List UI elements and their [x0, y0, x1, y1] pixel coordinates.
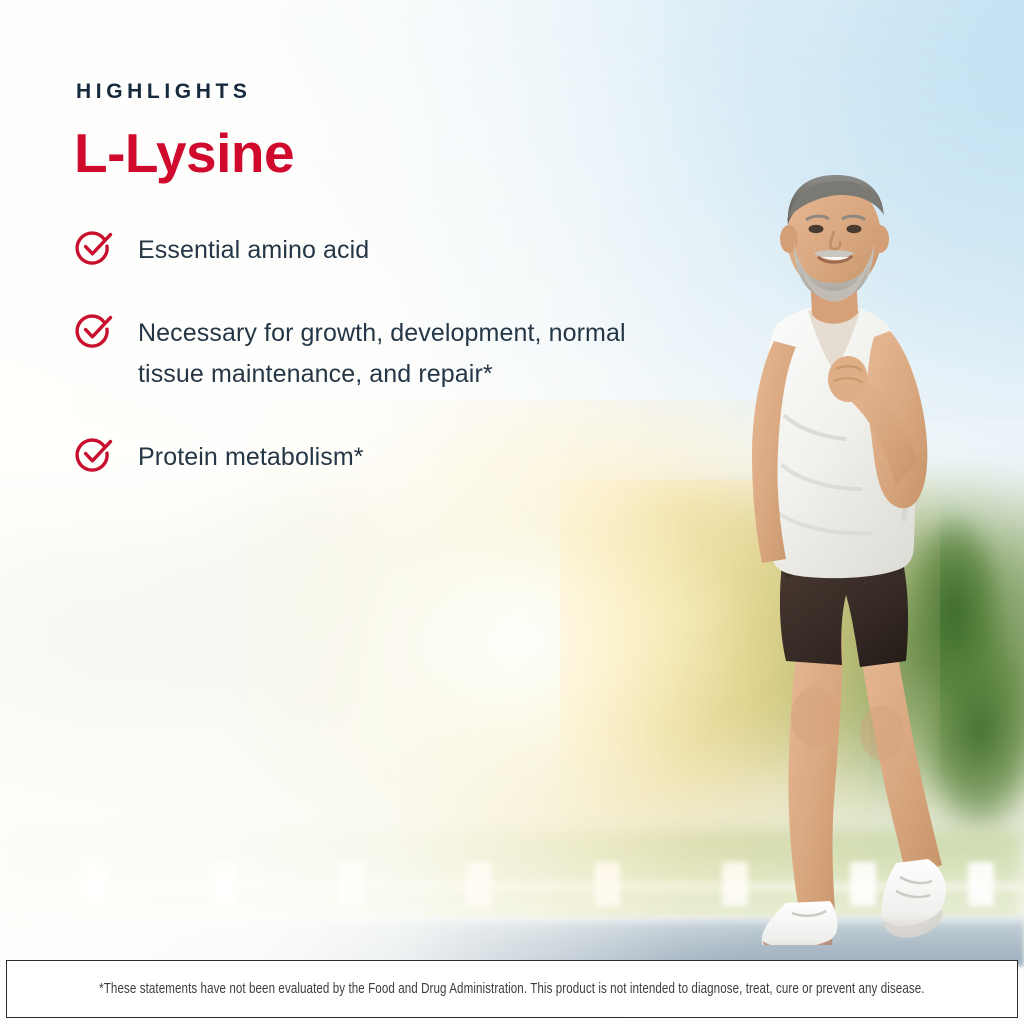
check-circle-icon — [74, 227, 114, 267]
page-title: L-Lysine — [74, 125, 294, 183]
runner-eye-right — [847, 225, 862, 233]
runner-left-leg — [788, 635, 842, 927]
disclaimer-text: *These statements have not been evaluate… — [99, 981, 924, 997]
eyebrow-label: HIGHLIGHTS — [76, 80, 252, 104]
runner-eye-left — [809, 225, 824, 233]
list-item-label: Protein metabolism* — [138, 435, 364, 478]
highlights-list: Essential amino acid Necessary for growt… — [74, 228, 714, 478]
runner-left-shoe — [762, 901, 838, 945]
list-item-label: Essential amino acid — [138, 228, 369, 271]
list-item-label: Necessary for growth, development, norma… — [138, 311, 698, 395]
list-item: Necessary for growth, development, norma… — [74, 311, 714, 395]
promo-graphic: HIGHLIGHTS L-Lysine Essential amino acid — [0, 0, 1024, 1024]
list-item: Essential amino acid — [74, 228, 714, 271]
check-circle-icon — [74, 310, 114, 350]
runner-photo-subject — [690, 165, 990, 945]
list-item: Protein metabolism* — [74, 435, 714, 478]
disclaimer-box: *These statements have not been evaluate… — [6, 960, 1018, 1018]
check-circle-icon — [74, 434, 114, 474]
